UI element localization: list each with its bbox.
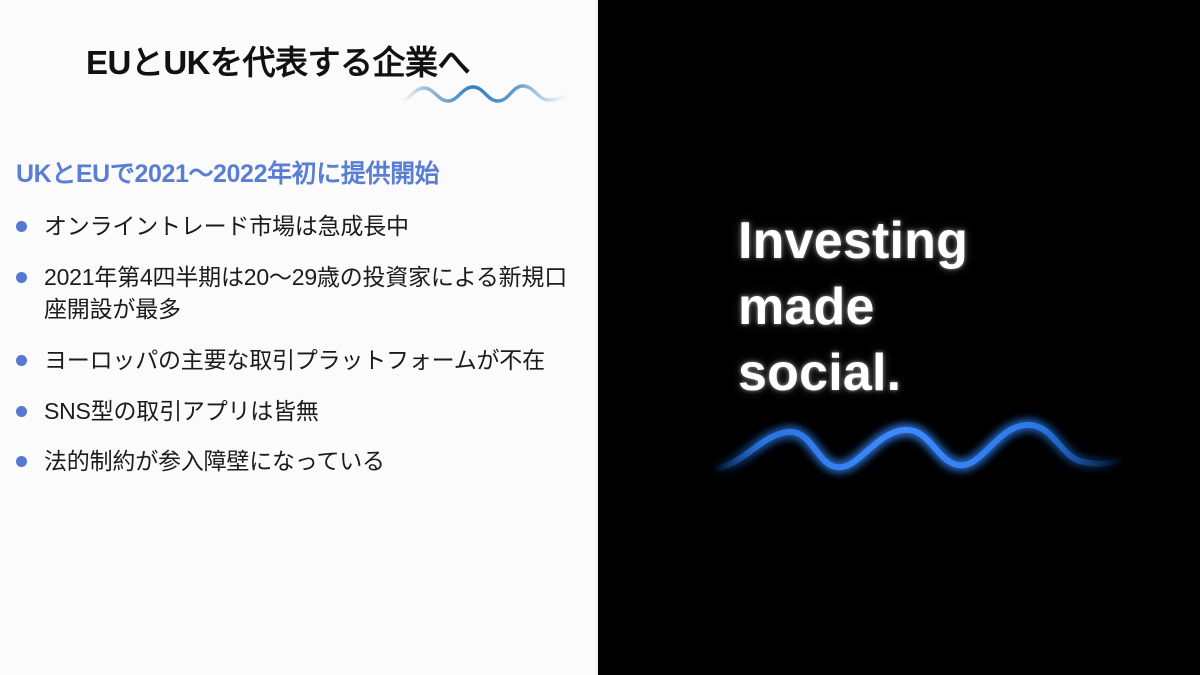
content-panel: EUとUKを代表する企業へ UKとEUで2021〜2022年初に提供開始: [0, 0, 598, 675]
brand-tagline: Investing made social.: [738, 208, 1158, 406]
tagline-line-2: made: [738, 274, 1158, 340]
list-item: オンライントレード市場は急成長中: [14, 210, 586, 243]
list-item: SNS型の取引アプリは皆無: [14, 395, 586, 428]
list-item: 法的制約が参入障壁になっている: [14, 445, 586, 478]
bullet-list: オンライントレード市場は急成長中 2021年第4四半期は20〜29歳の投資家によ…: [14, 210, 586, 478]
bullet-dot-icon: [16, 221, 27, 232]
list-item: ヨーロッパの主要な取引プラットフォームが不在: [14, 344, 586, 377]
list-item-label: 法的制約が参入障壁になっている: [44, 445, 586, 478]
list-item-label: オンライントレード市場は急成長中: [44, 210, 586, 243]
tagline-line-3: social.: [738, 340, 1158, 406]
bullet-dot-icon: [16, 456, 27, 467]
slide-title: EUとUKを代表する企業へ: [86, 44, 586, 82]
slide-subtitle: UKとEUで2021〜2022年初に提供開始: [16, 154, 439, 190]
list-item: 2021年第4四半期は20〜29歳の投資家による新規口座開設が最多: [14, 261, 586, 326]
list-item-label: ヨーロッパの主要な取引プラットフォームが不在: [44, 344, 586, 377]
title-block: EUとUKを代表する企業へ: [86, 44, 586, 114]
wave-glow-icon: [708, 405, 1128, 495]
wave-underline-icon: [400, 78, 572, 112]
bullet-dot-icon: [16, 272, 27, 283]
presentation-slide: EUとUKを代表する企業へ UKとEUで2021〜2022年初に提供開始: [0, 0, 1200, 675]
brand-panel: Investing made social.: [598, 0, 1200, 675]
tagline-line-1: Investing: [738, 208, 1158, 274]
bullet-dot-icon: [16, 355, 27, 366]
list-item-label: 2021年第4四半期は20〜29歳の投資家による新規口座開設が最多: [44, 261, 586, 326]
list-item-label: SNS型の取引アプリは皆無: [44, 395, 586, 428]
bullet-dot-icon: [16, 406, 27, 417]
